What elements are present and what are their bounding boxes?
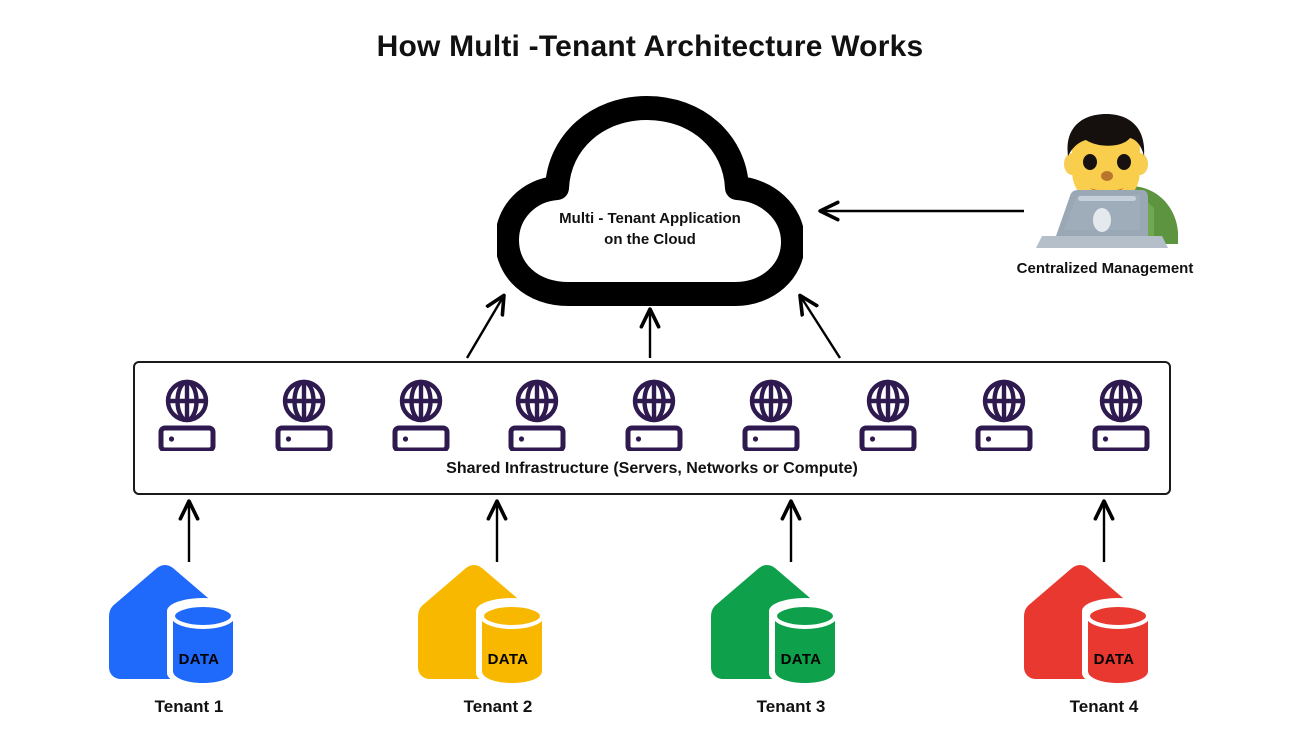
server-unit-5 bbox=[622, 379, 686, 451]
globe-server-icon bbox=[155, 379, 219, 451]
cloud-label-line1: Multi - Tenant Application bbox=[529, 208, 771, 229]
tenant-data-label-2: DATA bbox=[468, 651, 548, 668]
globe-server-icon bbox=[739, 379, 803, 451]
server-unit-2 bbox=[272, 379, 336, 451]
tenant-node-3: DATATenant 3 bbox=[691, 555, 891, 735]
shared-infrastructure-label: Shared Infrastructure (Servers, Networks… bbox=[135, 460, 1169, 478]
cloud-outline-icon bbox=[497, 96, 803, 308]
page-title: How Multi -Tenant Architecture Works bbox=[0, 30, 1300, 64]
globe-server-icon bbox=[622, 379, 686, 451]
server-unit-1 bbox=[155, 379, 219, 451]
server-unit-3 bbox=[389, 379, 453, 451]
centralized-management-node: Centralized Management bbox=[1012, 112, 1198, 287]
tenant-data-label-4: DATA bbox=[1074, 651, 1154, 668]
cloud-label: Multi - Tenant Application on the Cloud bbox=[529, 208, 771, 250]
tenant-node-1: DATATenant 1 bbox=[89, 555, 289, 735]
globe-server-icon bbox=[389, 379, 453, 451]
globe-server-icon bbox=[505, 379, 569, 451]
server-unit-4 bbox=[505, 379, 569, 451]
tenant-label-1: Tenant 1 bbox=[89, 697, 289, 717]
tenant-node-2: DATATenant 2 bbox=[398, 555, 598, 735]
server-unit-9 bbox=[1089, 379, 1153, 451]
globe-server-icon bbox=[972, 379, 1036, 451]
cloud-node: Multi - Tenant Application on the Cloud bbox=[497, 96, 803, 308]
globe-server-icon bbox=[272, 379, 336, 451]
tenant-data-label-1: DATA bbox=[159, 651, 239, 668]
globe-server-icon bbox=[856, 379, 920, 451]
centralized-management-label: Centralized Management bbox=[1012, 260, 1198, 277]
tenant-label-3: Tenant 3 bbox=[691, 697, 891, 717]
tenant-data-label-3: DATA bbox=[761, 651, 841, 668]
cloud-label-line2: on the Cloud bbox=[529, 229, 771, 250]
tenant-label-4: Tenant 4 bbox=[1004, 697, 1204, 717]
server-unit-7 bbox=[856, 379, 920, 451]
server-unit-6 bbox=[739, 379, 803, 451]
arrow-infra-right-to-cloud bbox=[801, 297, 840, 358]
globe-server-icon bbox=[1089, 379, 1153, 451]
shared-infrastructure-box: Shared Infrastructure (Servers, Networks… bbox=[133, 361, 1171, 495]
tenant-label-2: Tenant 2 bbox=[398, 697, 598, 717]
man-technologist-emoji-icon bbox=[1034, 112, 1184, 257]
tenant-row: DATATenant 1DATATenant 2DATATenant 3DATA… bbox=[0, 555, 1300, 735]
server-unit-8 bbox=[972, 379, 1036, 451]
server-icon-row bbox=[155, 379, 1153, 451]
tenant-node-4: DATATenant 4 bbox=[1004, 555, 1204, 735]
